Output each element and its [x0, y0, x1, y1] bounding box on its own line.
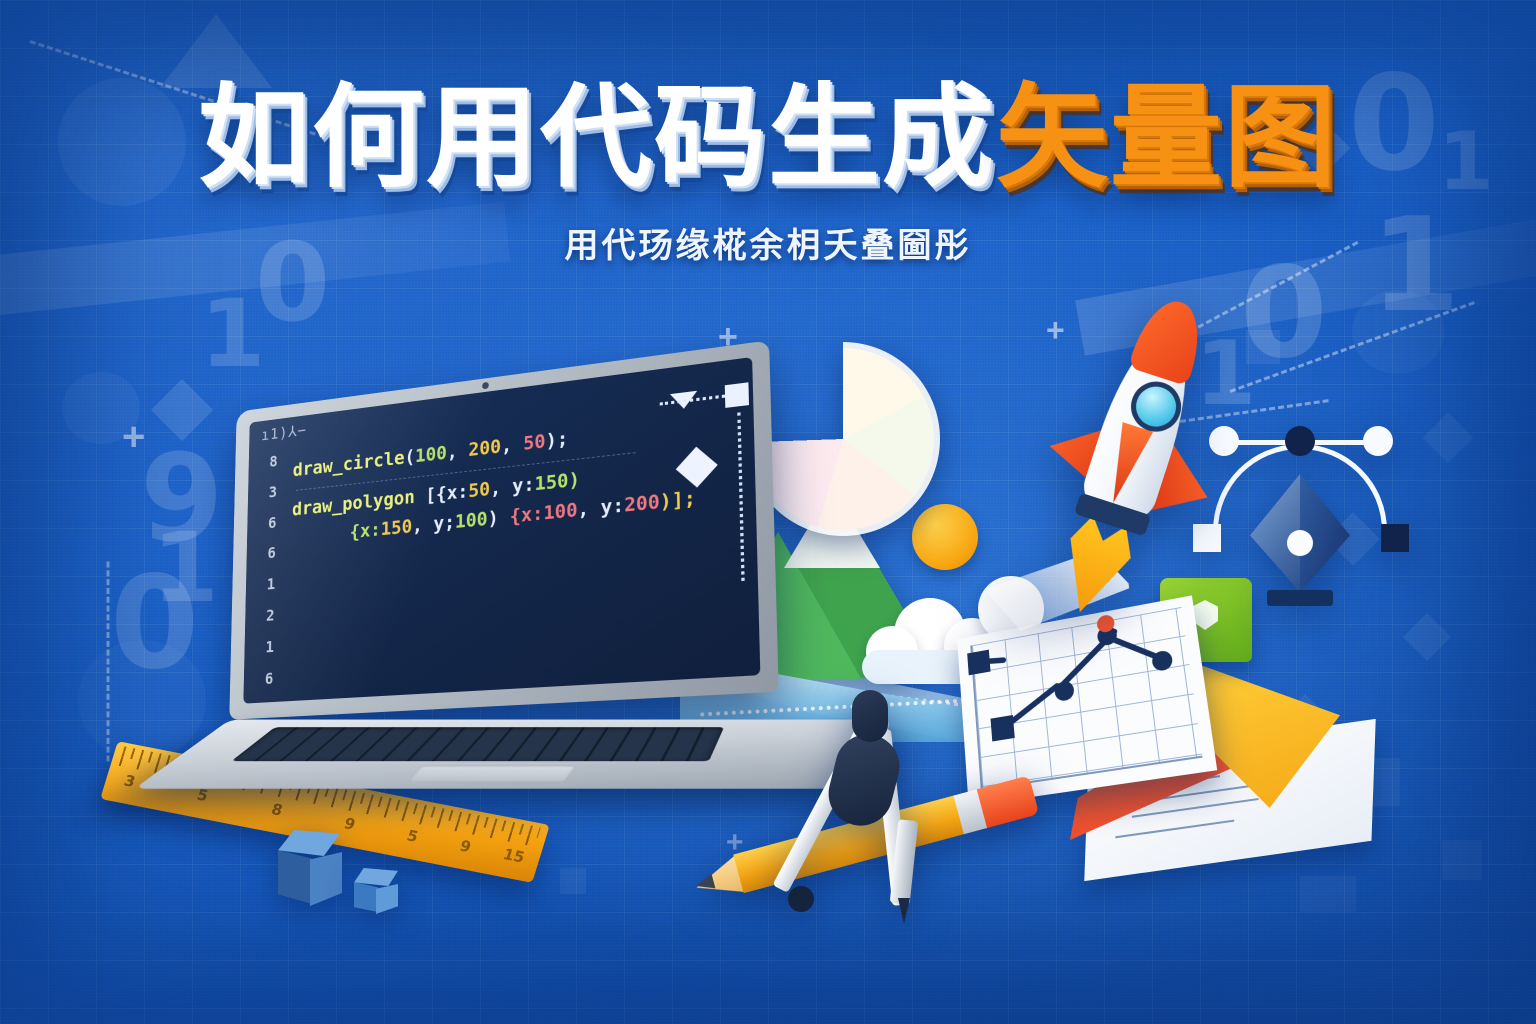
triangle-marker-icon [670, 391, 698, 411]
screen-diamond-marker [676, 447, 718, 488]
gutter-number: 2 [252, 600, 275, 633]
gutter-number: 6 [253, 538, 276, 571]
page-title: 如何用代码生成矢量图 [0, 80, 1536, 198]
laptop-lid: ı1)⅄− 8 3 6 6 1 2 1 6 draw_circle(100, 2… [229, 340, 779, 719]
code-token-comma: , [447, 440, 469, 464]
code-token-fn: draw_polygon [292, 487, 415, 521]
code-token-open: {x: [350, 519, 381, 543]
screen-square-marker [725, 382, 749, 408]
bg-circle [1352, 290, 1444, 374]
gutter-number: 8 [255, 447, 278, 480]
cube-right-face [310, 852, 342, 906]
poster-canvas: 0 1 0 1 9 1 0 1 0 1 + + + + 如何用代码生成矢量图 用… [0, 0, 1536, 1024]
code-token-open: {x: [510, 502, 544, 527]
code-token-mid: , y; [412, 511, 455, 537]
cube-icon [352, 868, 408, 918]
cube-top-face [278, 830, 340, 856]
code-token-arg2: 100 [455, 508, 488, 533]
code-token-open: [{x: [415, 481, 469, 508]
laptop-screen: ı1)⅄− 8 3 6 6 1 2 1 6 draw_circle(100, 2… [243, 357, 760, 704]
bezier-anchor-point[interactable] [1285, 426, 1315, 456]
cube-icon [270, 830, 354, 916]
bezier-control-point[interactable] [1363, 426, 1393, 456]
plus-icon: + [1046, 312, 1065, 349]
code-gutter: 8 3 6 6 1 2 1 6 [250, 447, 278, 696]
code-token-arg3: 100 [543, 499, 577, 525]
code-editor[interactable]: draw_circle(100, 200, 50); draw_polygon … [262, 404, 745, 556]
plus-icon: + [122, 415, 145, 460]
cube-left-face [278, 850, 312, 904]
bg-square [1300, 876, 1356, 912]
chart-marker-square[interactable] [967, 650, 990, 676]
gutter-number: 6 [254, 508, 277, 541]
gutter-number: 1 [252, 569, 275, 602]
code-glyph-row: ı1)⅄− [261, 421, 307, 444]
code-separator [296, 453, 636, 492]
code-token-arg4: 200 [624, 490, 660, 516]
code-token-paren: ( [404, 446, 415, 468]
code-token-close: )]; [660, 487, 697, 513]
keyboard[interactable] [231, 727, 724, 761]
page-subtitle: 用代玚缘椛余枂夭叠圙彤 [0, 218, 1536, 267]
webcam-icon [482, 382, 489, 390]
pen-base-bar [1267, 590, 1333, 606]
chart-marker-square[interactable] [991, 715, 1015, 741]
code-line-2: draw_polygon [{x:50, y:150) [292, 448, 745, 525]
trackpad[interactable] [407, 766, 576, 782]
cube-right-face [376, 884, 398, 914]
laptop-base [134, 720, 889, 789]
title-white-part: 如何用代码生成 [198, 73, 996, 203]
code-token-mid: , y: [577, 494, 624, 521]
title-orange-part: 矢量图 [996, 73, 1338, 203]
cube-left-face [354, 882, 378, 912]
code-token-close: ) [568, 469, 580, 492]
compass-icon [790, 700, 960, 900]
code-token-arg1: 50 [468, 479, 490, 503]
code-token-arg1: 100 [415, 442, 447, 467]
cube-top-face [354, 868, 398, 886]
code-token-arg2: 150 [534, 470, 568, 496]
pen-nib-hole [1287, 530, 1313, 556]
bg-dashed-line [107, 562, 110, 762]
gutter-number: 1 [251, 632, 274, 665]
sheet-line [1115, 820, 1234, 839]
screen-dotted-line [660, 394, 732, 406]
code-line-3: {x:150, y;100) {x:100, y:200)]; [350, 479, 746, 547]
code-token-arg3: 50 [523, 430, 545, 454]
gutter-number: 3 [254, 477, 277, 510]
ruler-number: 3 [122, 772, 138, 791]
code-token-mid: ) [488, 506, 510, 530]
code-token-mid: , y: [490, 474, 534, 501]
pencil-lead [694, 874, 715, 893]
code-token-arg1: 150 [381, 516, 413, 540]
code-token-paren: ); [546, 428, 569, 453]
compass-needle-foot [788, 886, 814, 912]
bezier-handle-square[interactable] [1381, 524, 1409, 552]
gutter-number: 6 [250, 663, 273, 696]
code-token-fn: draw_circle [293, 447, 405, 481]
code-token-comma: , [501, 433, 523, 457]
screen-vertical-dotted-line [737, 412, 744, 581]
code-token-arg2: 200 [468, 436, 501, 461]
title-block: 如何用代码生成矢量图 用代玚缘椛余枂夭叠圙彤 [0, 80, 1536, 267]
compass-head [852, 690, 888, 742]
bg-square [1442, 840, 1482, 880]
laptop-illustration: ı1)⅄− 8 3 6 6 1 2 1 6 draw_circle(100, 2… [185, 375, 885, 895]
code-line-1: draw_circle(100, 200, 50); [293, 404, 744, 485]
